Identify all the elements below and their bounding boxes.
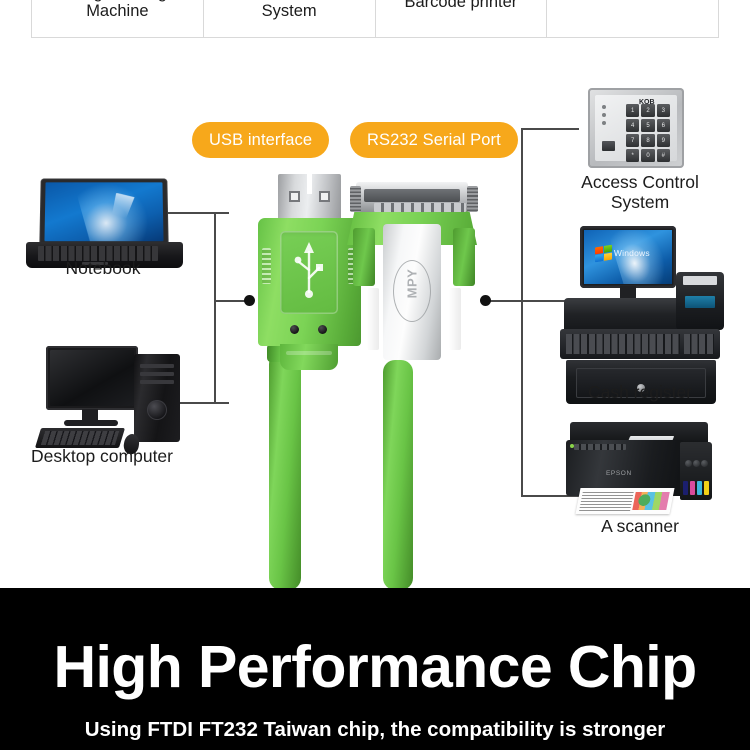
db9-wing-left [353,228,375,286]
usb-grip-left [262,248,271,284]
tower-drive-bay [140,380,174,384]
pos-monitor: Windows [580,226,676,288]
ink-tank-yellow [704,481,709,495]
right-junction-dot [480,295,491,306]
table-cell-programming-machine: Programming Machine [32,0,204,37]
cash-register-image: Windows [558,226,728,406]
notebook-image [26,178,186,270]
right-bracket-top-branch [521,128,579,130]
usb-shell-hole [319,191,330,202]
receipt-slot [683,276,717,285]
pos-keyboard [560,329,720,359]
access-control-system-image: KOB 1 2 3 4 5 6 7 8 9 * [588,88,684,168]
banner-subtitle: Using FTDI FT232 Taiwan chip, the compat… [0,718,750,742]
printed-output-sheet [575,488,674,514]
keypad-key[interactable]: 5 [641,119,654,132]
usb-shell-hole [289,191,300,202]
badge-rs232-serial-port: RS232 Serial Port [350,122,518,158]
db9-thumbscrew-right [467,186,478,212]
pc-tower [134,354,180,442]
desktop-computer-image [38,340,188,458]
banner-title: High Performance Chip [0,638,750,697]
usb-pin-hole [318,325,327,334]
usb-trident-icon [294,240,324,302]
printer-control-panel[interactable] [574,444,626,450]
db9-center-plate: MPY [383,224,441,360]
keypad-key[interactable]: 2 [641,104,654,117]
db9-pin-row [374,203,466,212]
keypad-key[interactable]: 1 [626,104,639,117]
rs232-connector: MPY [347,168,481,378]
ink-tank-cap [685,460,692,467]
keypad-face: KOB 1 2 3 4 5 6 7 8 9 * [595,95,677,161]
keypad-key[interactable]: 8 [641,134,654,147]
keypad-key[interactable]: 6 [657,119,670,132]
usb-housing [258,218,361,346]
receipt-printer [676,272,724,330]
keypad-key[interactable]: 9 [657,134,670,147]
monitor [46,346,138,410]
monitor-screen [50,350,134,406]
table-cell-access-control-system: Access Control System [204,0,376,37]
keypad-led-group [602,105,606,129]
keypad-key[interactable]: 3 [657,104,670,117]
db9-brand-mark: MPY [405,255,420,313]
right-bracket-spine [521,128,523,496]
table-cell-barcode-printer: Barcode printer [376,0,548,37]
ink-tank-cap [701,460,708,467]
scanner-image: EPSON [566,422,716,518]
cash-register-label: Cash register [546,382,734,402]
keypad-key[interactable]: # [657,149,670,162]
keypad-led [602,105,606,109]
pos-screen: Windows [584,230,672,284]
compatibility-table: Programming Machine Access Control Syste… [31,0,719,38]
usb-metal-shell [278,174,341,220]
bottom-banner: High Performance Chip Using FTDI FT232 T… [0,588,750,750]
laptop-screen [44,182,163,241]
tower-logo [147,400,167,420]
desktop-computer-label: Desktop computer [2,446,202,466]
keypad-key[interactable]: 0 [641,149,654,162]
ink-tank-cyan [697,481,702,495]
infographic-canvas: Programming Machine Access Control Syste… [0,0,750,750]
laptop-lid [39,178,168,246]
tower-drive-bay [140,364,174,368]
keypad-key[interactable]: 4 [626,119,639,132]
db9-metal-shell [356,182,468,212]
keypad-body: KOB 1 2 3 4 5 6 7 8 9 * [588,88,684,168]
usb-pin-hole [290,325,299,334]
table-cell-empty [547,0,718,37]
green-cable-left [269,352,301,590]
windows-logo-icon [595,245,612,263]
monitor-stand-base [64,420,118,426]
badge-usb-interface: USB interface [192,122,329,158]
access-control-system-label: Access Control System [546,172,734,213]
receipt-printer-display [685,296,715,308]
left-junction-dot [244,295,255,306]
ink-tank-unit [680,442,712,500]
green-cable-right [383,360,413,590]
db9-rib-right [449,288,461,350]
keypad-led [602,121,606,125]
right-bracket-stem [489,300,523,302]
desktop-keyboard [35,428,125,448]
keypad-bell-button[interactable] [602,141,615,151]
keypad-key[interactable]: * [626,149,639,162]
db9-rib-left [367,288,379,350]
usb-cable-neck [280,344,338,370]
keypad-key-grid[interactable]: 1 2 3 4 5 6 7 8 9 * 0 # [626,104,670,162]
keypad-key[interactable]: 7 [626,134,639,147]
db9-thumbscrew-left [350,186,361,212]
ink-tank-magenta [690,481,695,495]
db9-wing-right [453,228,475,286]
left-bracket-spine [214,212,216,404]
ink-tank-cap [693,460,700,467]
tower-drive-bay [140,372,174,376]
printer-brand: EPSON [606,470,632,477]
ink-tank-black [683,481,688,495]
pos-os-label: Windows [614,248,650,258]
keypad-led [602,113,606,117]
notebook-label: Notebook [8,258,198,278]
scanner-label: A scanner [546,516,734,536]
